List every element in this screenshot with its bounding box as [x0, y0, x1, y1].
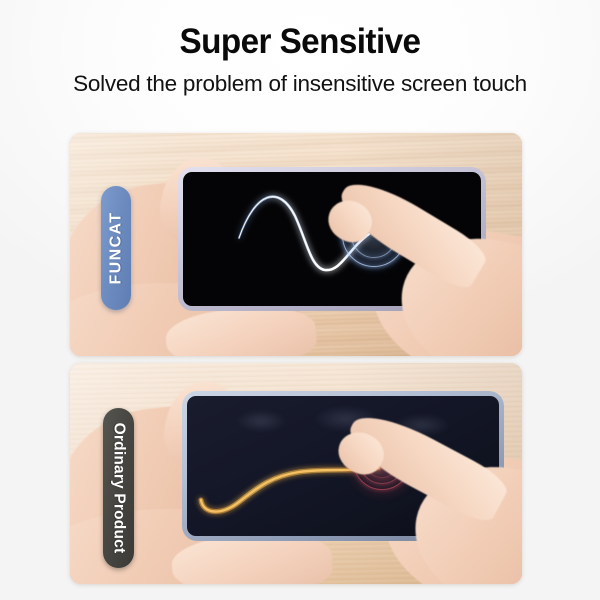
- label-badge-ordinary: Ordinary Product: [103, 408, 134, 568]
- header: Super Sensitive Solved the problem of in…: [0, 0, 600, 133]
- label-badge-funcat-text: FUNCAT: [107, 212, 125, 285]
- label-badge-funcat: FUNCAT: [101, 186, 131, 310]
- screen-smudge: [235, 410, 287, 432]
- comparison-panel-ordinary: [70, 363, 522, 584]
- comparison-panel-funcat: [70, 133, 522, 356]
- page-subtitle: Solved the problem of insensitive screen…: [0, 71, 600, 97]
- page-title: Super Sensitive: [15, 22, 585, 61]
- label-badge-ordinary-text: Ordinary Product: [110, 423, 128, 554]
